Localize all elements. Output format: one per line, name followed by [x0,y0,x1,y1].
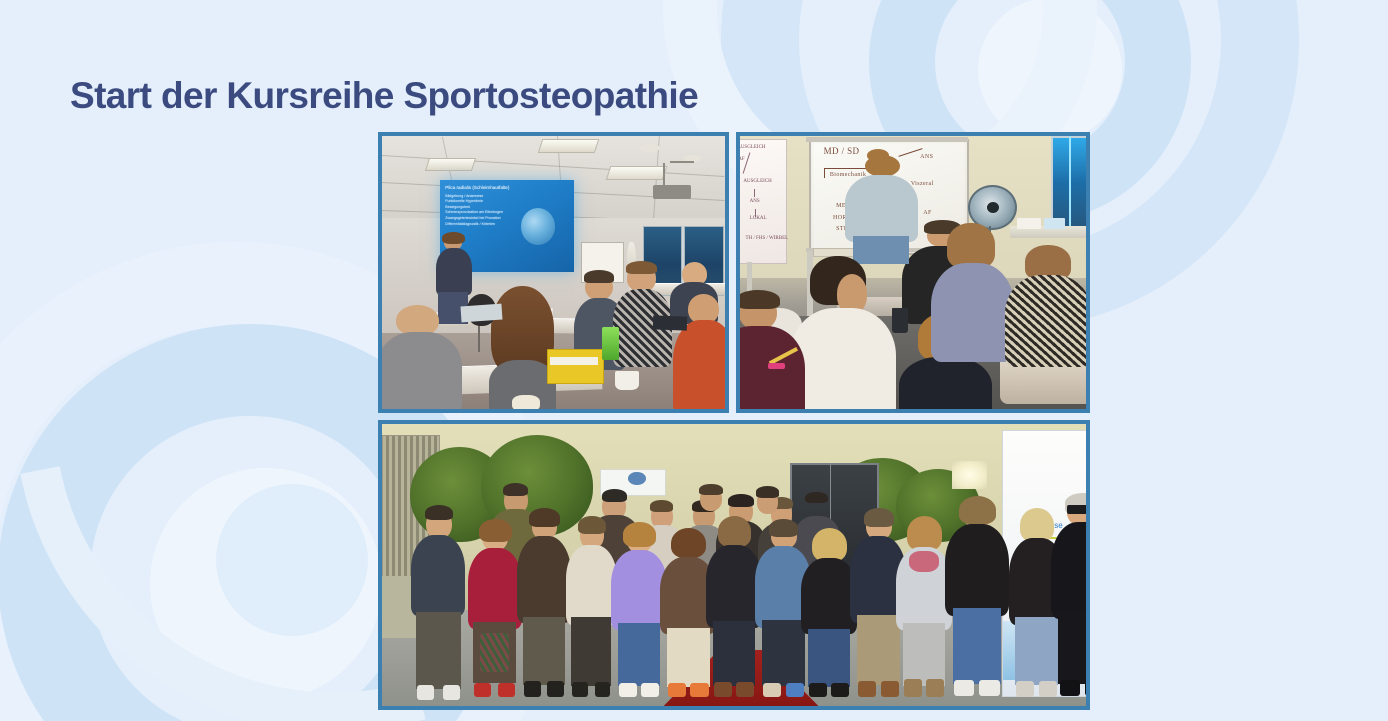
slide-heading: Plica radialis (Schleimhautfalte) [445,184,569,191]
photo-demo[interactable]: AUSGLEICH AF AUSGLEICH ANS LOKAL TH / FH… [736,132,1090,413]
photo-lecture-scene: Plica radialis (Schleimhautfalte) Bildge… [382,136,725,409]
photo-lecture[interactable]: Plica radialis (Schleimhautfalte) Bildge… [378,132,729,413]
flipchart-note-2: AF [740,157,745,162]
group-person [611,526,667,701]
group-person [896,520,952,700]
page-title: Start der Kursreihe Sportosteopathie [70,75,698,118]
demo-patient [844,155,920,264]
flipchart-note-4: ANS [750,199,760,204]
photo-group-scene: Wisse e Asp [382,424,1086,706]
flipchart-note-6: TH / FHS / WIRBEL [746,236,789,241]
flipchart-note-5: LOKAL [750,216,767,221]
whiteboard-note-af: AF [923,210,931,216]
group-person [801,531,857,700]
group-person [945,500,1008,700]
group-person [1051,497,1086,700]
group-person [410,509,466,701]
group-person [516,511,572,700]
whiteboard-note-ans: ANS [920,154,933,160]
group-person [706,520,762,700]
photo-demo-scene: AUSGLEICH AF AUSGLEICH ANS LOKAL TH / FH… [740,136,1086,409]
group-person [466,523,522,701]
flipchart-note-1: AUSGLEICH [740,145,766,150]
flipchart-note-3: AUSGLEICH [743,179,771,184]
photo-collage: Plica radialis (Schleimhautfalte) Bildge… [338,116,1050,694]
photo-group[interactable]: Wisse e Asp [378,420,1090,710]
slide-canvas: Start der Kursreihe Sportosteopathie [0,0,1388,721]
